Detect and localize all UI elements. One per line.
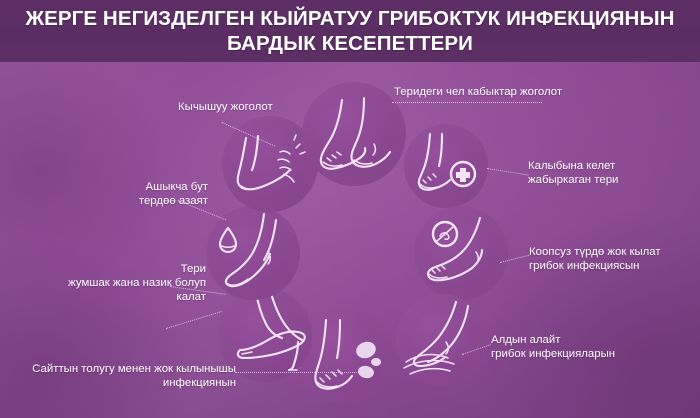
label-lower-left: Сайттын толугу менен жок кылынышы инфекц… [4, 362, 236, 390]
foot-with-no-fungus-badge-icon [414, 206, 508, 300]
label-right: Коопсуз түрдө жок кылат грибок инфекцияс… [529, 245, 700, 273]
label-lower-right: Алдын алайт грибок инфекцияларын [491, 333, 691, 361]
infographic-poster: ЖЕРГЕ НЕГИЗДЕЛГЕН КЫЙРАТУУ ГРИБОКТУК ИНФ… [0, 0, 700, 418]
node-right[interactable] [414, 206, 508, 300]
background-corner-bottom-right [480, 208, 700, 418]
label-upper-left: Кычышуу жоголот [178, 100, 358, 114]
label-top: Теридеги чел кабыктар жоголот [394, 85, 624, 99]
header-banner: ЖЕРГЕ НЕГИЗДЕЛГЕН КЫЙРАТУУ ГРИБОКТУК ИНФ… [0, 0, 700, 62]
foot-with-itch-lines-icon [222, 116, 318, 212]
page-title: ЖЕРГЕ НЕГИЗДЕЛГЕН КЫЙРАТУУ ГРИБОКТУК ИНФ… [0, 0, 700, 56]
foot-with-sweat-droplet-icon [206, 206, 300, 300]
title-line-1: ЖЕРГЕ НЕГИЗДЕЛГЕН КЫЙРАТУУ ГРИБОКТУК ИНФ… [25, 7, 674, 30]
foot-in-water-ripple-icon [396, 294, 488, 386]
title-line-2: БАРДЫК КЕСЕПЕТТЕРИ [8, 31, 692, 56]
node-upper-left[interactable] [222, 116, 318, 212]
label-upper-right: Калыбына келет жабыркаган тери [528, 159, 696, 187]
connector-bottom [235, 372, 365, 373]
node-upper-right[interactable] [404, 124, 488, 208]
label-upper-left-outer: Ашыкча бут тердөө азаят [30, 180, 208, 208]
foot-with-medical-cross-icon [404, 124, 488, 208]
connector-top [392, 102, 542, 103]
label-left: Тери жумшак жана назик болуп калат [10, 262, 206, 304]
node-left[interactable] [206, 206, 300, 300]
node-lower-right[interactable] [396, 294, 488, 386]
